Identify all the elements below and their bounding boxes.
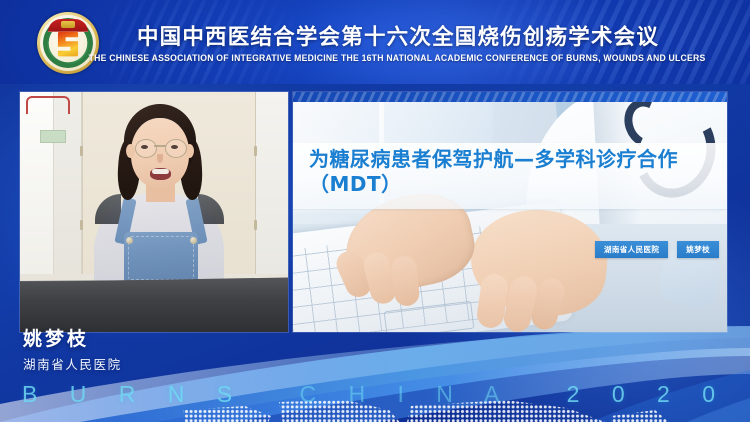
presenter-teeth: [152, 169, 169, 174]
slide-tag-hospital: 湖南省人民医院: [595, 241, 668, 258]
presenter-name: 姚梦枝: [23, 328, 122, 351]
eyeglasses-lens-right: [165, 139, 187, 158]
wall-sign: [40, 130, 66, 143]
slide-top-dot-pattern: [293, 92, 727, 102]
presenter-mouth: [150, 168, 171, 180]
overall-bib: [124, 232, 198, 284]
presenter-ear-left: [126, 144, 135, 158]
wall-panel-b: [54, 92, 82, 274]
conference-header-banner: 中国中西医结合学会第十六次全国烧伤创疡学术会议 THE CHINESE ASSO…: [0, 0, 750, 84]
slide-top-accent-bar: [293, 92, 727, 102]
conference-title-cn: 中国中西医结合学会第十六次全国烧伤创疡学术会议: [0, 20, 750, 51]
panel-hinge: [254, 146, 257, 156]
desk-surface: [20, 274, 288, 332]
slide-credit-tags: 湖南省人民医院 姚梦枝: [595, 241, 719, 258]
presenter-name-overlay: 姚梦枝 湖南省人民医院: [23, 328, 122, 373]
slide-title: 为糖尿病患者保驾护航—多学科诊疗合作（MDT）: [309, 147, 719, 197]
presentation-slide[interactable]: 为糖尿病患者保驾护航—多学科诊疗合作（MDT） 湖南省人民医院 姚梦枝: [293, 92, 727, 332]
wordmark-burns: B U R N S: [22, 381, 245, 408]
overall-button-right: [190, 237, 197, 244]
wall-panel-a: [20, 92, 54, 274]
panel-hinge: [80, 220, 83, 230]
eyeglasses-bridge: [154, 145, 166, 147]
conference-subtitle-en: THE CHINESE ASSOCIATION OF INTEGRATIVE M…: [15, 53, 735, 63]
presenter-organization: 湖南省人民医院: [23, 354, 122, 373]
panel-hinge: [80, 146, 83, 156]
eyeglasses-lens-left: [135, 139, 157, 158]
wordmark-china: C H I N A: [299, 381, 512, 408]
overall-button-left: [126, 237, 133, 244]
footer-wordmark: B U R N S C H I N A 2 0 2 0: [0, 379, 750, 409]
wordmark-year: 2 0 2 0: [567, 381, 728, 408]
speaker-video-feed[interactable]: [20, 92, 288, 332]
broadcast-stage: 中国中西医结合学会第十六次全国烧伤创疡学术会议 THE CHINESE ASSO…: [0, 0, 750, 422]
slide-title-band: 为糖尿病患者保驾护航—多学科诊疗合作（MDT）: [293, 143, 727, 209]
slide-tag-presenter: 姚梦枝: [677, 241, 719, 258]
wall-panel-e: [256, 92, 288, 274]
presenter-nose: [157, 154, 163, 163]
panel-hinge: [254, 220, 257, 230]
wall-red-frame: [26, 96, 70, 114]
